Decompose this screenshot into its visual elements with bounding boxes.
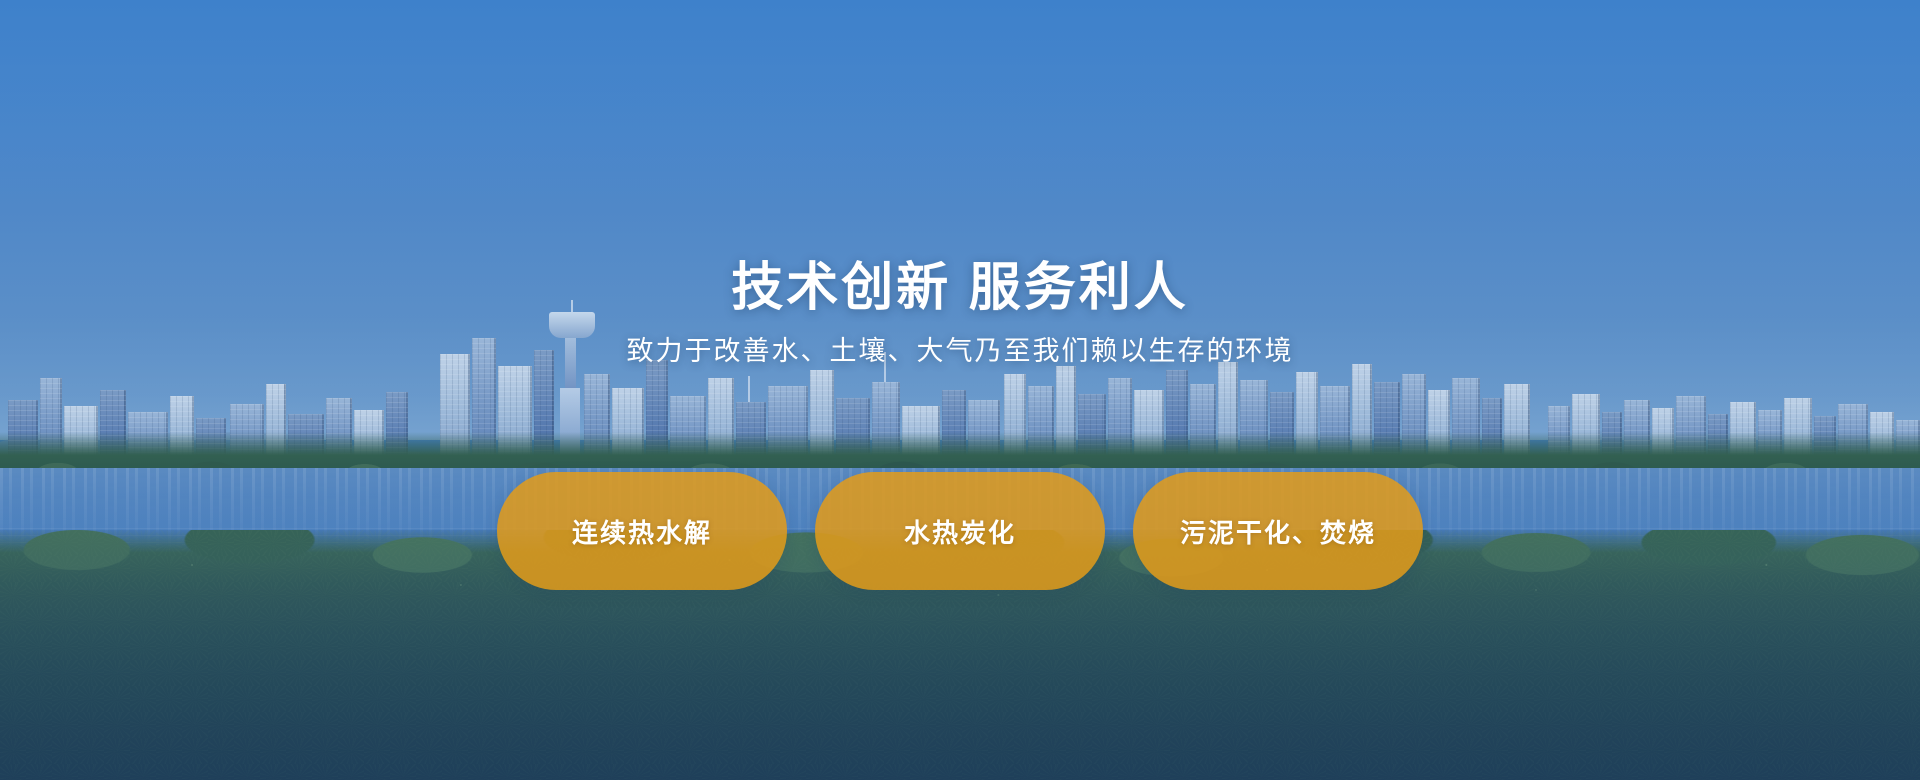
cta-button-continuous-thermal-hydrolysis[interactable]: 连续热水解 <box>497 472 787 590</box>
cta-button-group: 连续热水解 水热炭化 污泥干化、焚烧 <box>0 472 1920 590</box>
cta-button-sludge-drying-incineration[interactable]: 污泥干化、焚烧 <box>1133 472 1423 590</box>
hero-banner: 技术创新 服务利人 致力于改善水、土壤、大气乃至我们赖以生存的环境 连续热水解 … <box>0 0 1920 780</box>
cta-button-hydrothermal-carbonization[interactable]: 水热炭化 <box>815 472 1105 590</box>
far-tree-line <box>0 432 1920 472</box>
